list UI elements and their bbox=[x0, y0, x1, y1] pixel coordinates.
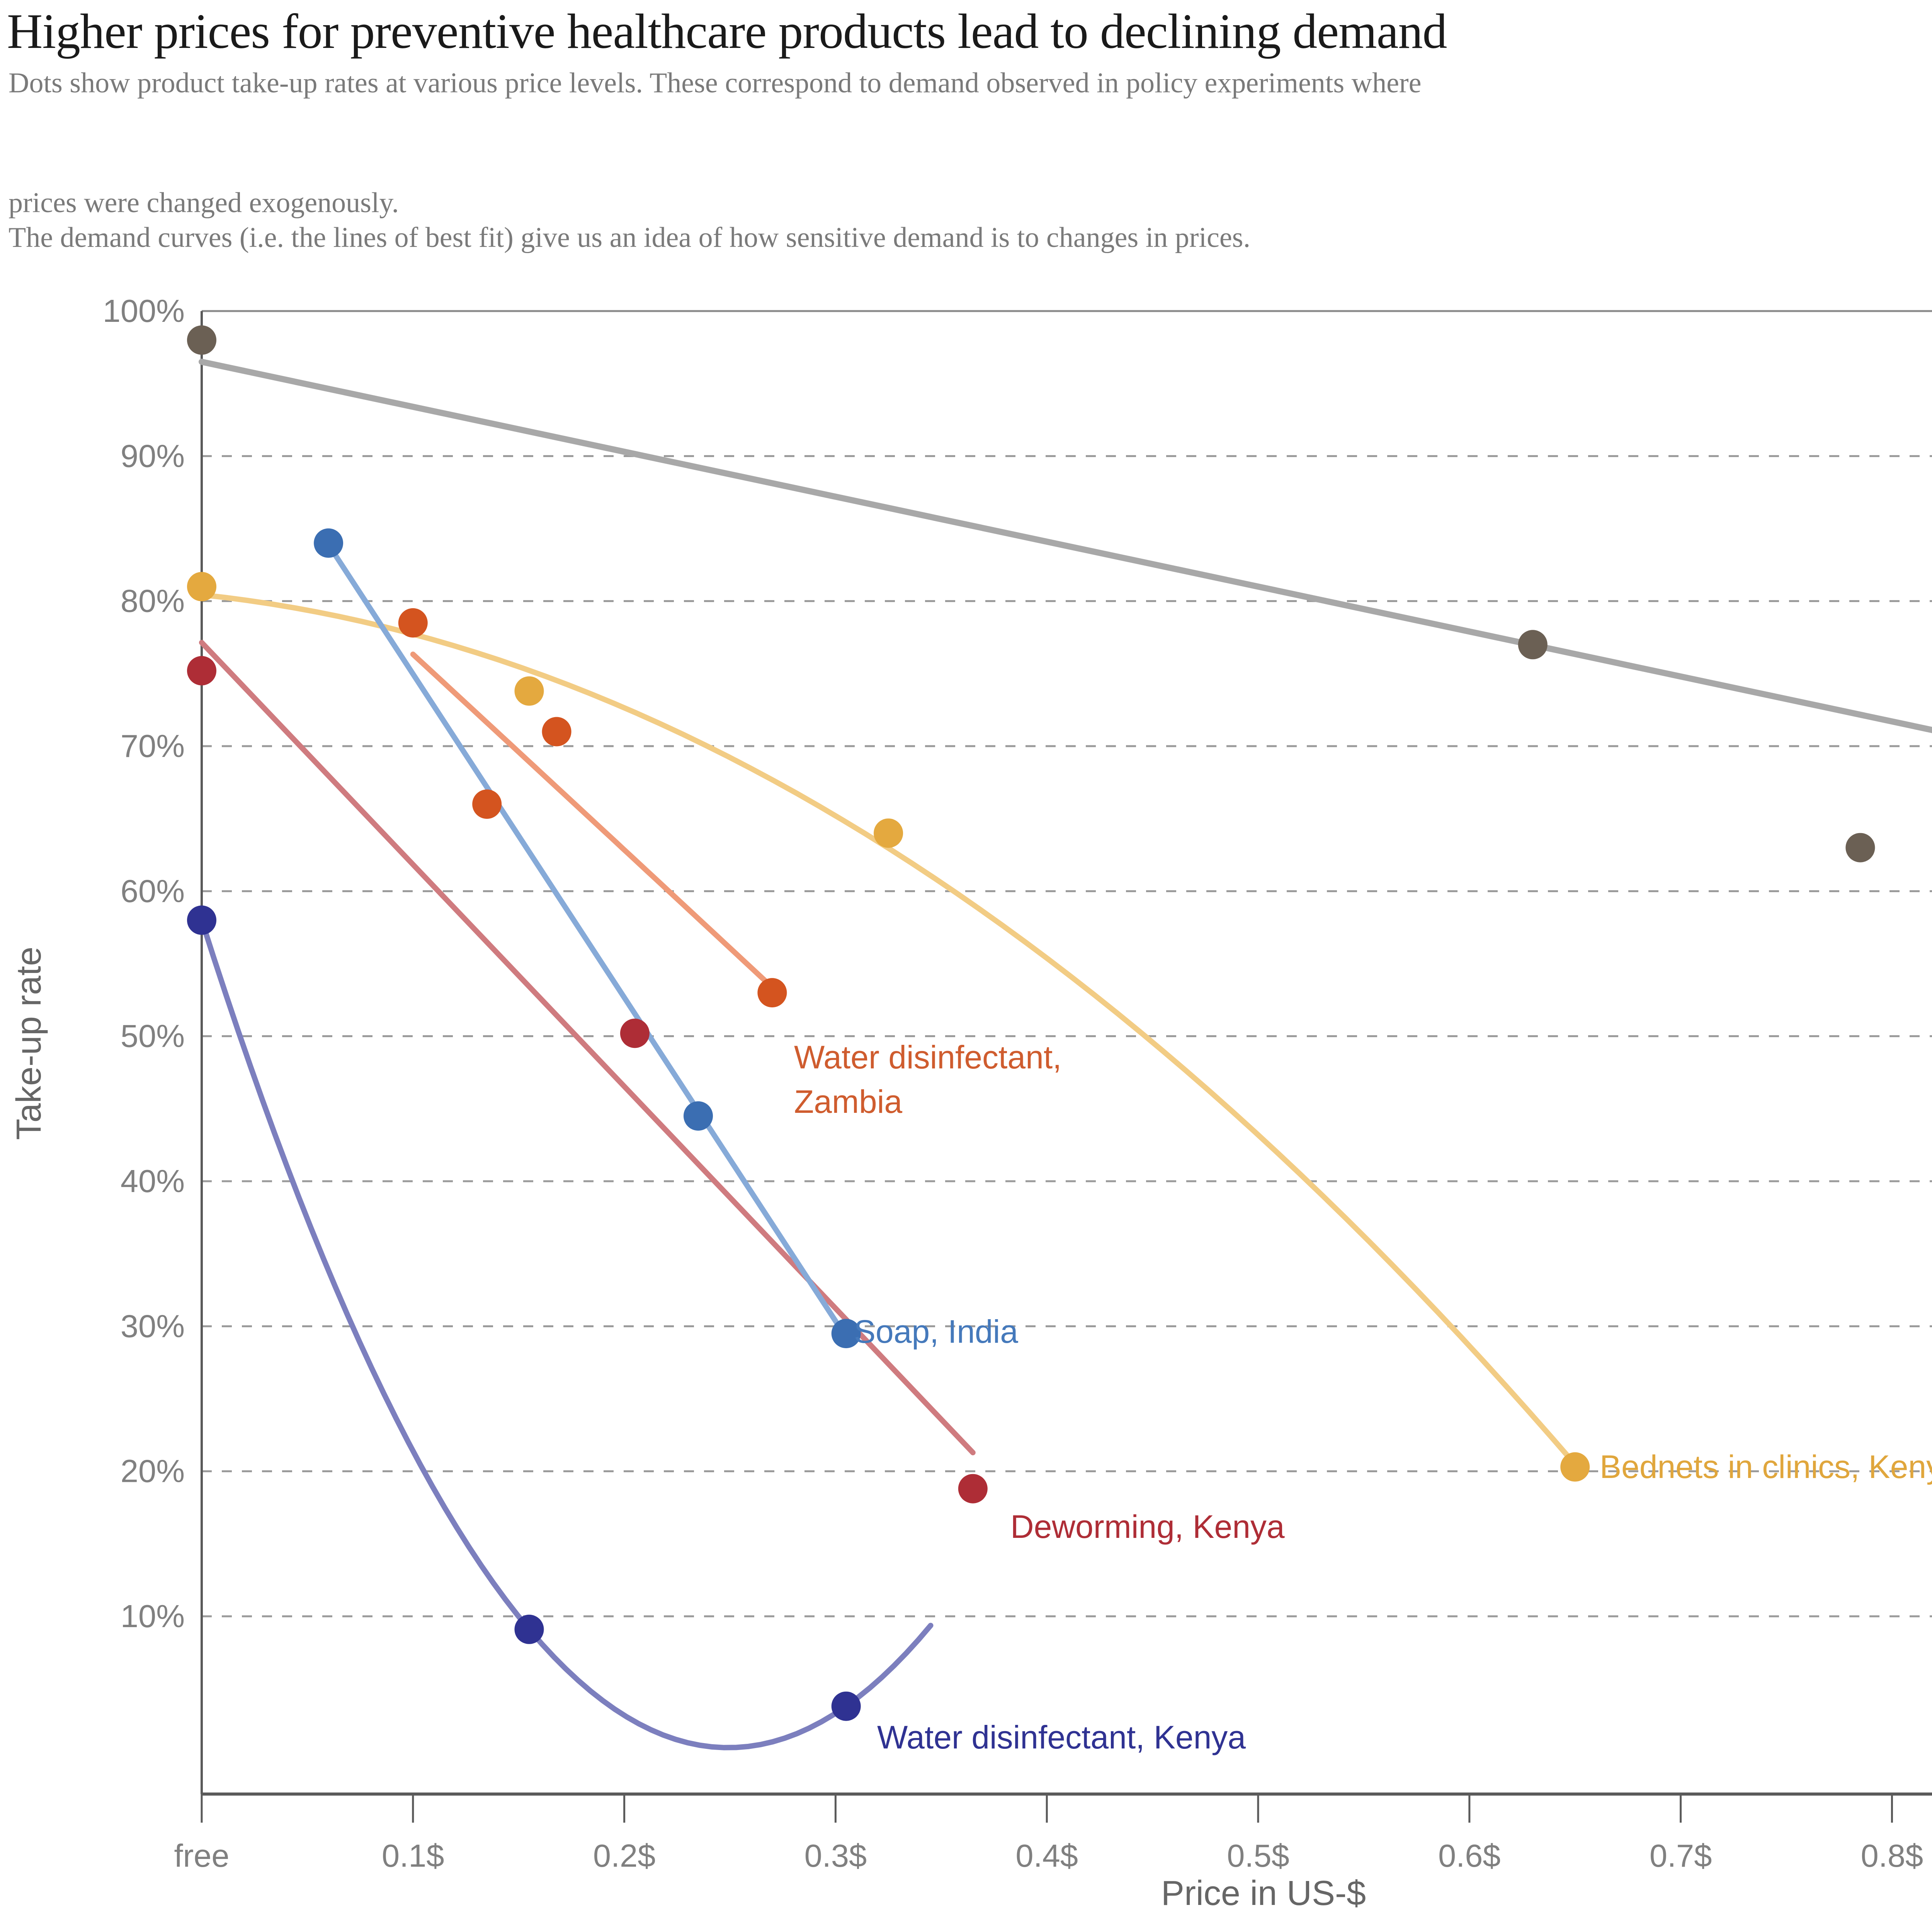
chart-canvas: free0.1$0.2$0.3$0.4$0.5$0.6$0.7$0.8$0.9$… bbox=[0, 0, 1932, 1932]
y-tick-label: 30% bbox=[121, 1308, 185, 1344]
data-point-deworming-kenya-2[interactable] bbox=[958, 1474, 988, 1503]
y-tick-label: 10% bbox=[121, 1598, 185, 1634]
data-point-soap-india-1[interactable] bbox=[684, 1101, 713, 1131]
gridlines bbox=[202, 311, 1932, 1616]
data-point-water-disinfectant-zambia-3[interactable] bbox=[757, 978, 787, 1007]
x-tick-label: free bbox=[174, 1838, 229, 1874]
series-label-6: Zambia bbox=[794, 1083, 902, 1120]
data-point-bednets-in-clinics-kenya-0[interactable] bbox=[187, 572, 216, 601]
data-point-deworming-kenya-0[interactable] bbox=[187, 656, 216, 685]
series-label-5: Water disinfectant, bbox=[794, 1039, 1062, 1075]
y-tick-label: 80% bbox=[121, 583, 185, 619]
y-tick-label: 20% bbox=[121, 1453, 185, 1489]
data-point-deworming-kenya-1[interactable] bbox=[620, 1019, 650, 1048]
data-point-soap-india-0[interactable] bbox=[314, 529, 343, 558]
data-point-water-disinfectant-kenya-2[interactable] bbox=[832, 1692, 861, 1721]
scatter-plot-area: free0.1$0.2$0.3$0.4$0.5$0.6$0.7$0.8$0.9$… bbox=[0, 0, 1932, 1932]
data-point-bednet-vouchers-kenya-1[interactable] bbox=[1518, 630, 1548, 659]
x-tick-label: 0.2$ bbox=[593, 1838, 656, 1874]
data-point-bednets-in-clinics-kenya-3[interactable] bbox=[1560, 1452, 1590, 1481]
y-tick-label: 70% bbox=[121, 728, 185, 764]
x-tick-label: 0.4$ bbox=[1015, 1838, 1078, 1874]
x-axis-title: Price in US-$ bbox=[1161, 1874, 1366, 1913]
data-point-water-disinfectant-kenya-0[interactable] bbox=[187, 905, 216, 935]
fit-line-soap-india bbox=[328, 544, 846, 1337]
data-point-water-disinfectant-zambia-0[interactable] bbox=[398, 608, 428, 638]
y-axis-title: Take-up rate bbox=[10, 947, 48, 1140]
series-labels: Bednet vouchers,KenyaBednets in clinics,… bbox=[794, 821, 1932, 1755]
x-tick-label: 0.7$ bbox=[1650, 1838, 1712, 1874]
y-tick-label: 60% bbox=[121, 873, 185, 909]
data-point-water-disinfectant-zambia-1[interactable] bbox=[472, 789, 502, 819]
data-point-water-disinfectant-zambia-2[interactable] bbox=[542, 717, 571, 747]
data-point-bednets-in-clinics-kenya-1[interactable] bbox=[515, 676, 544, 706]
series-label-7: Water disinfectant, Kenya bbox=[877, 1719, 1246, 1755]
series-label-3: Deworming, Kenya bbox=[1010, 1509, 1285, 1545]
data-point-bednet-vouchers-kenya-0[interactable] bbox=[187, 325, 216, 355]
x-tick-label: 0.8$ bbox=[1861, 1838, 1923, 1874]
series-label-2: Bednets in clinics, Kenya bbox=[1600, 1449, 1932, 1485]
x-tick-label: 0.3$ bbox=[804, 1838, 867, 1874]
x-tick-label: 0.6$ bbox=[1438, 1838, 1501, 1874]
y-tick-label: 100% bbox=[103, 293, 185, 329]
x-tick-label: 0.5$ bbox=[1227, 1838, 1289, 1874]
data-point-bednets-in-clinics-kenya-2[interactable] bbox=[874, 818, 903, 848]
data-point-bednet-vouchers-kenya-2[interactable] bbox=[1845, 833, 1875, 862]
axes: free0.1$0.2$0.3$0.4$0.5$0.6$0.7$0.8$0.9$… bbox=[10, 293, 1932, 1913]
y-tick-label: 40% bbox=[121, 1163, 185, 1199]
data-point-water-disinfectant-kenya-1[interactable] bbox=[515, 1615, 544, 1644]
series-label-4: Soap, India bbox=[854, 1313, 1018, 1350]
y-tick-label: 90% bbox=[121, 438, 185, 474]
x-tick-label: 0.1$ bbox=[382, 1838, 444, 1874]
fit-line-bednet-vouchers-kenya bbox=[202, 362, 1932, 748]
fit-line-water-disinfectant-zambia bbox=[413, 654, 772, 987]
y-tick-label: 50% bbox=[121, 1018, 185, 1054]
